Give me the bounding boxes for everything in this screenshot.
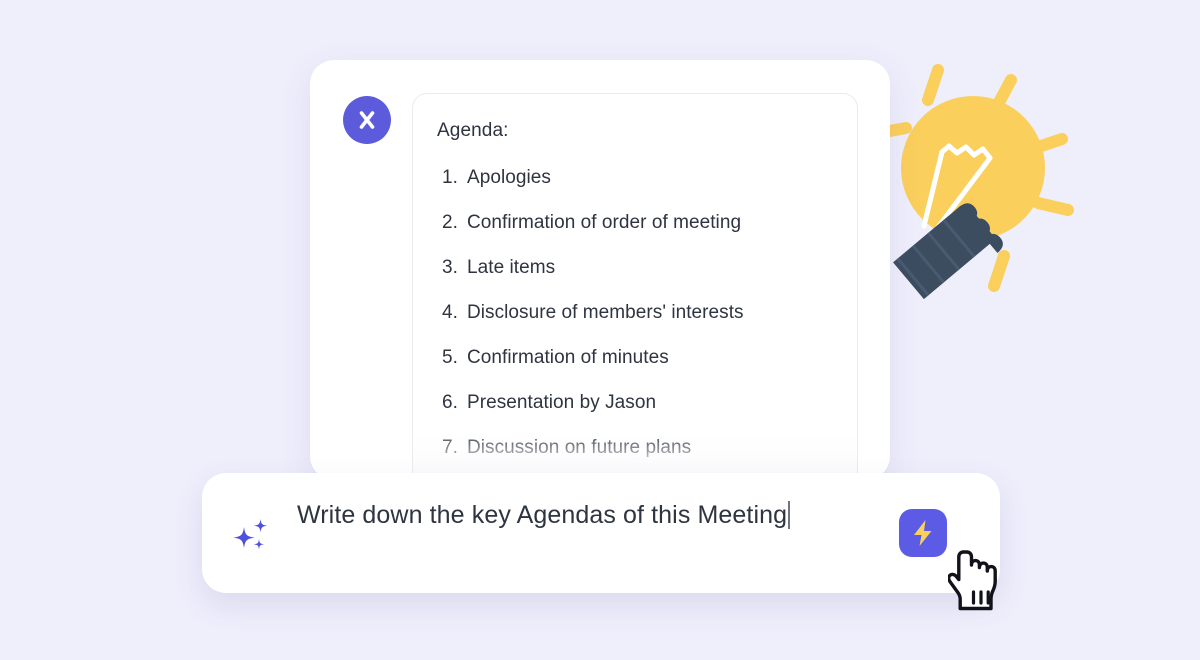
list-item: Confirmation of order of meeting <box>437 213 833 232</box>
agenda-response-panel: Agenda: Apologies Confirmation of order … <box>412 93 858 480</box>
sparkles-icon <box>230 515 272 557</box>
list-item: Late items <box>437 258 833 277</box>
avatar <box>343 96 391 144</box>
screen-root: Agenda: Apologies Confirmation of order … <box>0 0 1200 660</box>
lightning-bolt-icon <box>910 518 936 548</box>
assistant-message-card: Agenda: Apologies Confirmation of order … <box>310 60 890 480</box>
agenda-list: Apologies Confirmation of order of meeti… <box>437 168 833 480</box>
agenda-heading: Agenda: <box>437 120 833 142</box>
prompt-input-field[interactable]: Write down the key Agendas of this Meeti… <box>297 495 887 536</box>
list-item: Discussion on future plans <box>437 438 833 457</box>
lightbulb-icon <box>880 48 1090 313</box>
prompt-input-bar[interactable]: Write down the key Agendas of this Meeti… <box>202 473 1000 593</box>
prompt-input-value: Write down the key Agendas of this Meeti… <box>297 501 787 529</box>
list-item: Presentation by Jason <box>437 393 833 412</box>
list-item: Confirmation of minutes <box>437 348 833 367</box>
send-button[interactable] <box>899 509 947 557</box>
list-item: Disclosure of members' interests <box>437 303 833 322</box>
x-mark-icon <box>352 105 382 135</box>
list-item: Apologies <box>437 168 833 187</box>
text-caret <box>788 501 790 529</box>
